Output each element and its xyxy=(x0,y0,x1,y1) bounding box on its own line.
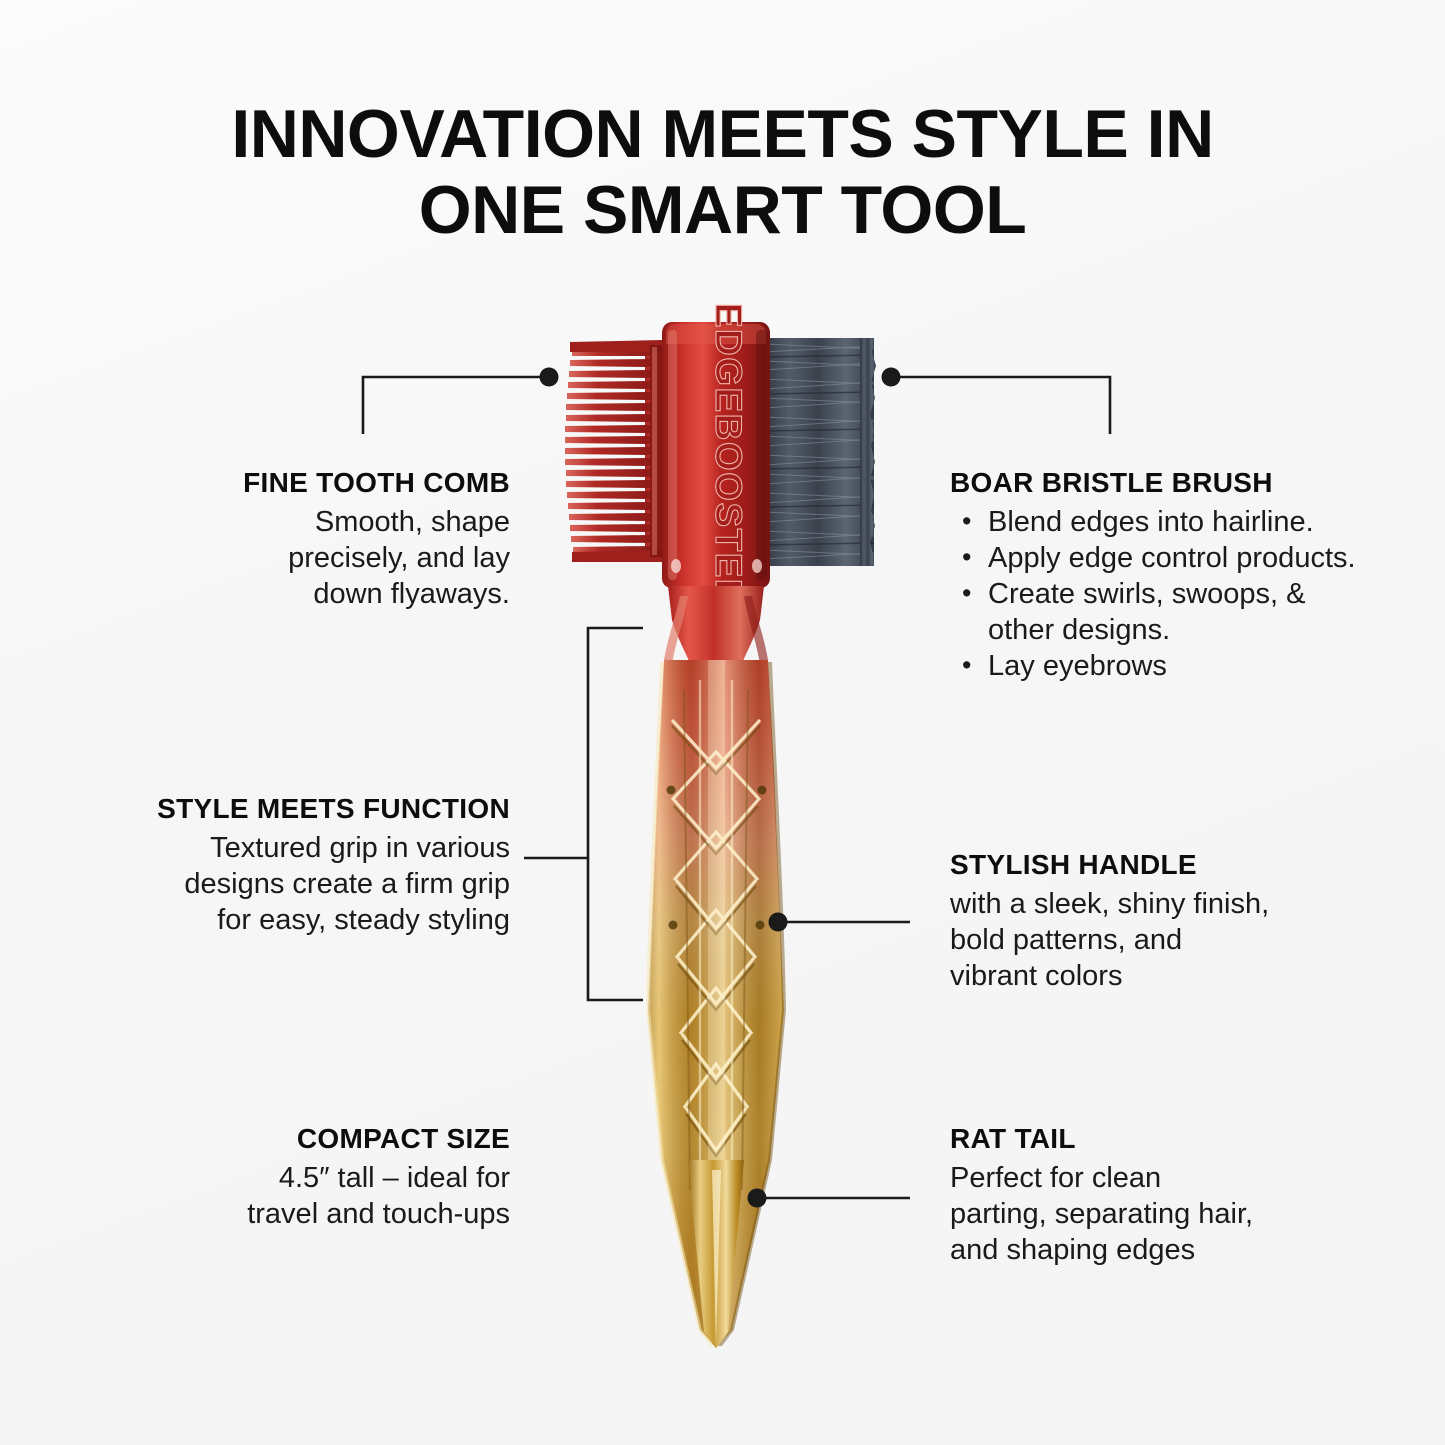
brush-head-body: EDGEBOOSTER xyxy=(662,303,770,607)
callout-bullets-boar-bristle-brush: Blend edges into hairline. Apply edge co… xyxy=(950,504,1370,684)
callout-body-rat-tail: Perfect for clean parting, separating ha… xyxy=(950,1160,1350,1268)
page-title-line-1: INNOVATION MEETS STYLE IN xyxy=(0,96,1445,172)
leader-boar-bristle-brush xyxy=(892,377,1110,434)
page-title-line-2: ONE SMART TOOL xyxy=(0,172,1445,248)
handle-and-rat-tail xyxy=(630,640,810,1360)
callout-heading-style-meets-function: STYLE MEETS FUNCTION xyxy=(60,792,510,826)
leader-style-meets-function-bracket xyxy=(588,628,643,1000)
callout-heading-stylish-handle: STYLISH HANDLE xyxy=(950,848,1350,882)
list-item: Blend edges into hairline. xyxy=(950,504,1370,540)
boar-bristle-group xyxy=(762,338,876,566)
callout-fine-tooth-comb: FINE TOOTH COMB Smooth, shape precisely,… xyxy=(118,466,510,612)
callout-heading-boar-bristle-brush: BOAR BRISTLE BRUSH xyxy=(950,466,1370,500)
callout-style-meets-function: STYLE MEETS FUNCTION Textured grip in va… xyxy=(60,792,510,938)
list-item: Lay eyebrows xyxy=(950,648,1370,684)
callout-heading-fine-tooth-comb: FINE TOOTH COMB xyxy=(118,466,510,500)
leader-dot-fine-tooth-comb xyxy=(540,368,559,387)
leader-dot-stylish-handle xyxy=(769,913,788,932)
comb-teeth-group xyxy=(565,340,673,562)
callout-rat-tail: RAT TAIL Perfect for clean parting, sepa… xyxy=(950,1122,1350,1268)
callout-body-stylish-handle: with a sleek, shiny finish, bold pattern… xyxy=(950,886,1350,994)
list-item: Create swirls, swoops, & other designs. xyxy=(950,576,1370,648)
callout-heading-rat-tail: RAT TAIL xyxy=(950,1122,1350,1156)
leader-fine-tooth-comb xyxy=(363,377,548,434)
callout-stylish-handle: STYLISH HANDLE with a sleek, shiny finis… xyxy=(950,848,1350,994)
brand-emboss-text: EDGEBOOSTER xyxy=(708,303,749,607)
callout-compact-size: COMPACT SIZE 4.5″ tall – ideal for trave… xyxy=(140,1122,510,1232)
leader-dot-boar-bristle-brush xyxy=(882,368,901,387)
callout-body-fine-tooth-comb: Smooth, shape precisely, and lay down fl… xyxy=(118,504,510,612)
leader-dot-rat-tail xyxy=(748,1189,767,1208)
page-title: INNOVATION MEETS STYLE IN ONE SMART TOOL xyxy=(0,96,1445,248)
list-item: Apply edge control products. xyxy=(950,540,1370,576)
callout-body-compact-size: 4.5″ tall – ideal for travel and touch-u… xyxy=(140,1160,510,1232)
callout-heading-compact-size: COMPACT SIZE xyxy=(140,1122,510,1156)
callout-boar-bristle-brush: BOAR BRISTLE BRUSH Blend edges into hair… xyxy=(950,466,1370,684)
handle-neck xyxy=(664,586,768,672)
callout-body-style-meets-function: Textured grip in various designs create … xyxy=(60,830,510,938)
